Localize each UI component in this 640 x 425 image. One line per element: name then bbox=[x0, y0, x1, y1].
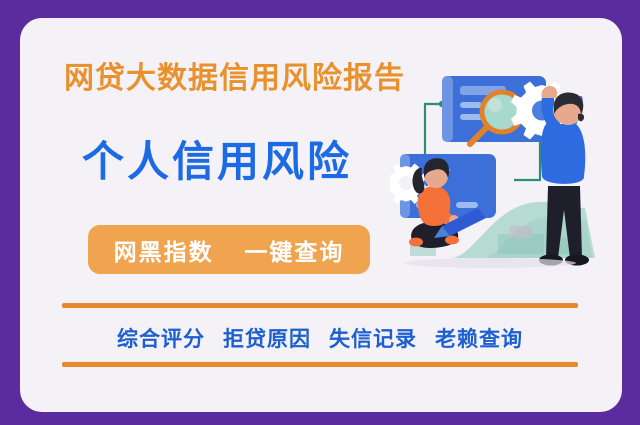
query-cta-label-right: 一键查询 bbox=[244, 239, 344, 265]
page-title: 网贷大数据信用风险报告 bbox=[64, 62, 405, 96]
feature-item-score[interactable]: 综合评分 bbox=[117, 323, 205, 353]
query-cta-button[interactable]: 网黑指数 一键查询 bbox=[88, 225, 370, 274]
feature-item-record[interactable]: 失信记录 bbox=[329, 323, 417, 353]
credit-data-analysis-illustration bbox=[390, 58, 622, 298]
divider-top bbox=[62, 303, 578, 308]
query-cta-label: 网黑指数 一键查询 bbox=[114, 233, 345, 267]
page-subtitle: 个人信用风险 bbox=[82, 138, 352, 186]
poster-card: 网贷大数据信用风险报告 个人信用风险 网黑指数 一键查询 综合评分 拒贷原因 失… bbox=[20, 18, 622, 412]
query-cta-label-left: 网黑指数 bbox=[114, 239, 214, 265]
feature-item-reason[interactable]: 拒贷原因 bbox=[223, 323, 311, 353]
feature-list: 综合评分 拒贷原因 失信记录 老赖查询 bbox=[62, 318, 578, 358]
divider-bottom bbox=[62, 362, 578, 367]
credit-report-poster: 网贷大数据信用风险报告 个人信用风险 网黑指数 一键查询 综合评分 拒贷原因 失… bbox=[0, 0, 640, 425]
feature-item-laolai[interactable]: 老赖查询 bbox=[435, 323, 523, 353]
